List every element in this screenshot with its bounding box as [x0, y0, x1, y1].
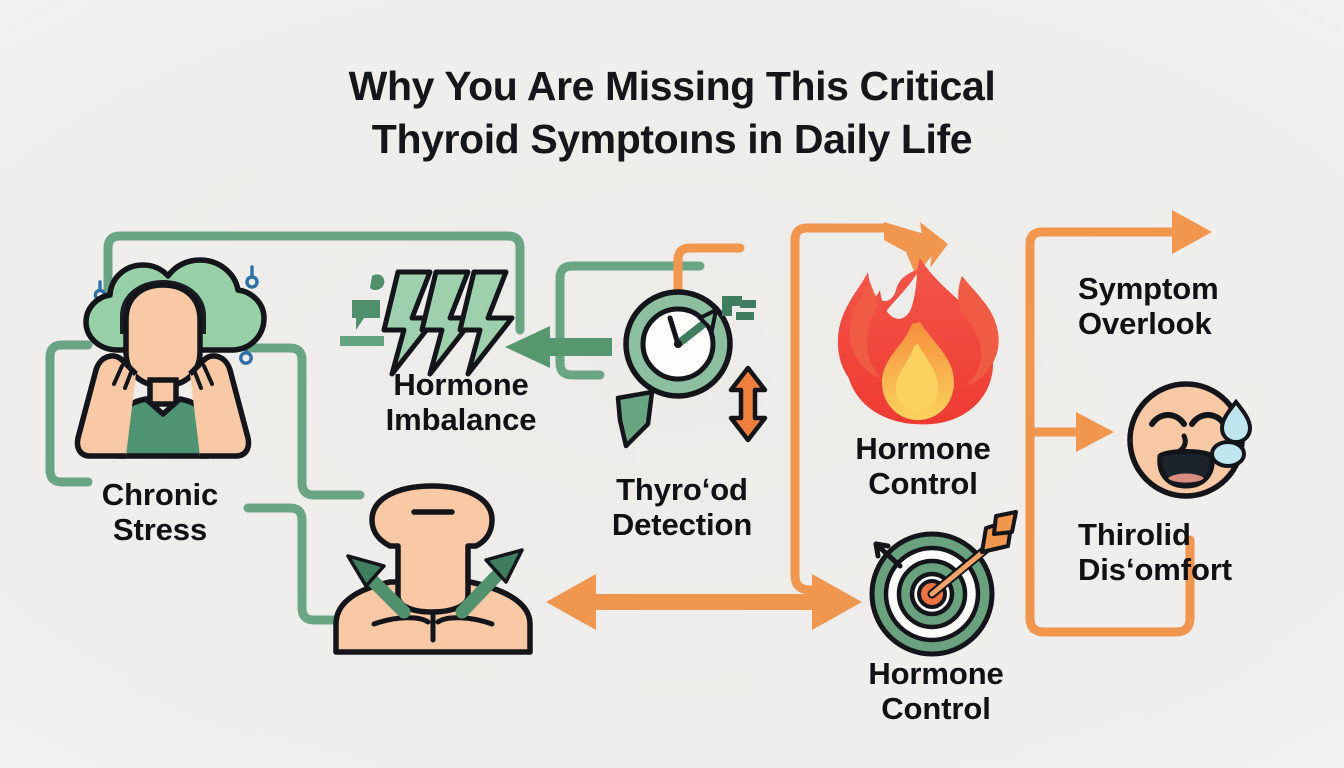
label-line-1: Symptom — [1078, 271, 1219, 306]
infographic-canvas: Why You Are Missing This Critical Thyroi… — [0, 0, 1344, 768]
label-line-1: Hormone — [393, 367, 528, 402]
yawning-sweating-face-icon — [1130, 384, 1250, 496]
left-arm — [78, 356, 137, 456]
label-line-2: Control — [881, 691, 991, 726]
node-label-symptom-overlook: Symptom Overlook — [1078, 272, 1308, 341]
node-label-thyroid-detection: Thyroʻod Detection — [570, 473, 794, 542]
head-shape — [126, 285, 200, 386]
target-dartboard-icon — [872, 512, 1016, 654]
sweat-drop-small — [1212, 442, 1244, 466]
label-line-2: Disʻomfort — [1078, 552, 1232, 587]
bolt-3 — [460, 272, 512, 374]
label-line-2: Imbalance — [386, 402, 537, 437]
title-line-2: Thyroid Symptoıns in Daily Life — [372, 116, 972, 162]
label-line-1: Chronic — [102, 477, 218, 512]
node-label-hormone-imbalance: Hormone Imbalance — [330, 368, 592, 437]
shard-icon — [618, 392, 652, 446]
label-line-1: Hormone — [855, 431, 990, 466]
node-label-thirolid-discomfort: Thirolid Disʻomfort — [1078, 518, 1302, 587]
title-line-1: Why You Are Missing This Critical — [349, 63, 996, 109]
node-label-hormone-control-target: Hormone Control — [826, 657, 1046, 726]
node-label-chronic-stress: Chronic Stress — [62, 478, 258, 547]
label-line-1: Hormone — [868, 656, 1003, 691]
neck-thyroid-icon — [332, 486, 530, 652]
label-line-2: Stress — [113, 512, 207, 547]
up-down-arrow-icon — [731, 368, 765, 440]
label-line-2: Control — [868, 466, 978, 501]
flame-icon — [838, 258, 999, 424]
label-line-2: Detection — [612, 507, 752, 542]
right-arm — [190, 356, 249, 456]
clock-gauge-icon — [618, 292, 765, 446]
gauge-marker-icon — [722, 296, 756, 320]
stressed-person-cloud-icon — [78, 260, 265, 456]
label-line-1: Thyroʻod — [616, 472, 748, 507]
node-label-hormone-control-fire: Hormone Control — [812, 432, 1034, 501]
label-line-2: Overlook — [1078, 306, 1212, 341]
label-line-1: Thirolid — [1078, 517, 1191, 552]
page-title: Why You Are Missing This Critical Thyroi… — [0, 60, 1344, 167]
lightning-bolts-icon — [340, 272, 512, 374]
